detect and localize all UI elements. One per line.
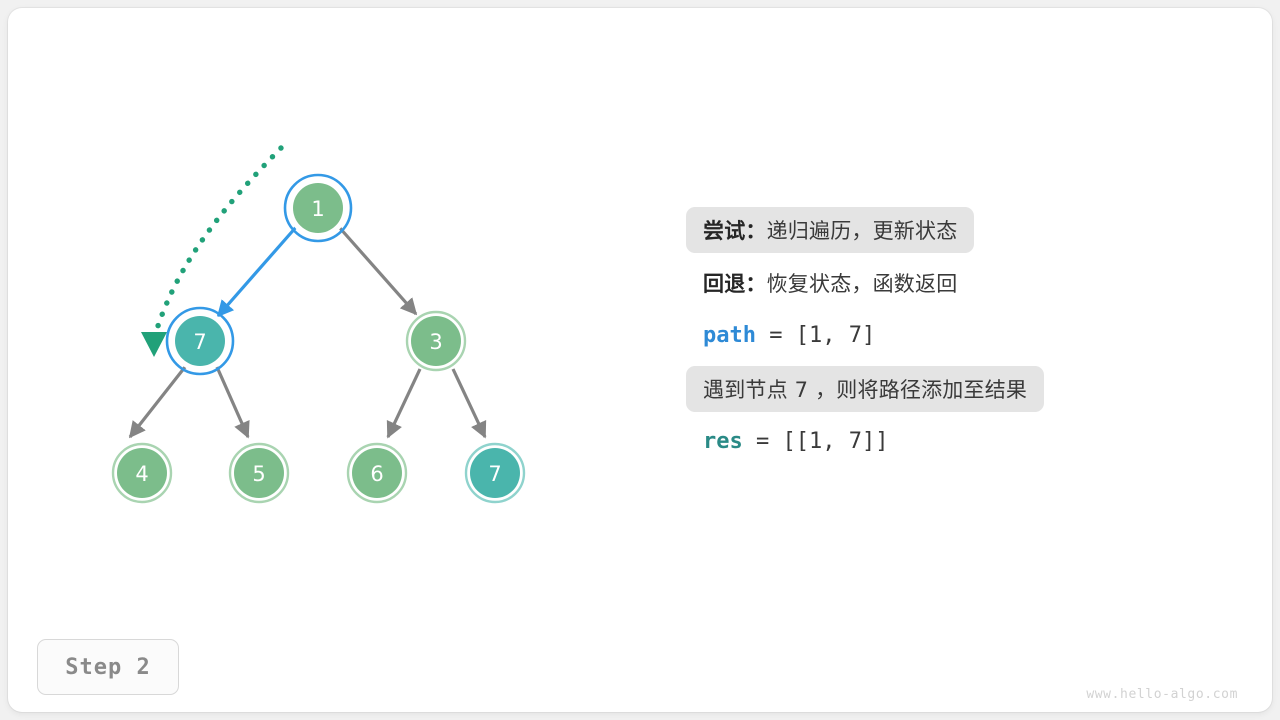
tree-node-4[interactable]: 4 [113,444,171,502]
explanation-panel: 尝试： 递归遍历，更新状态 回退： 恢复状态，函数返回 path = [1, 7… [686,206,1226,471]
retreat-prefix-label: 回退： [703,268,767,298]
try-pill: 尝试： 递归遍历，更新状态 [686,207,974,253]
tree-node-7-left[interactable]: 7 [167,308,233,374]
step-badge: Step 2 [37,639,179,695]
panel-row-res: res = [[1, 7]] [686,418,1226,465]
dotted-traversal-curve [156,148,281,332]
tree-node-6[interactable]: 6 [348,444,406,502]
found-text-label: 遇到节点 7 ，则将路径添加至结果 [703,374,1027,404]
node-5-label: 5 [252,462,265,486]
try-prefix-label: 尝试： [703,215,767,245]
node-4-label: 4 [135,462,148,486]
path-value-label: = [1, 7] [756,323,875,348]
path-line: path = [1, 7] [686,313,892,359]
try-text-label: 递归遍历，更新状态 [767,215,958,245]
edge-3-to-6 [388,369,420,437]
retreat-line: 回退： 恢复状态，函数返回 [686,260,974,306]
edge-1-to-7 [218,226,297,316]
tree-node-5[interactable]: 5 [230,444,288,502]
panel-row-retreat: 回退： 恢复状态，函数返回 [686,259,1226,306]
panel-row-path: path = [1, 7] [686,312,1226,359]
tree-node-7-right[interactable]: 7 [466,444,524,502]
found-pill: 遇到节点 7 ，则将路径添加至结果 [686,366,1044,412]
tree-node-3[interactable]: 3 [407,312,465,370]
tree-nodes: 1 7 3 4 [113,175,524,502]
tree-node-1[interactable]: 1 [285,175,351,241]
node-3-label: 3 [429,330,442,354]
panel-row-try: 尝试： 递归遍历，更新状态 [686,206,1226,253]
step-badge-label: Step 2 [65,655,150,680]
res-variable-label: res [703,429,743,454]
edge-7-to-5 [217,367,248,437]
panel-row-found: 遇到节点 7 ，则将路径添加至结果 [686,365,1226,412]
screenshot-root: 1 7 3 4 [0,0,1280,720]
node-7-left-label: 7 [193,330,206,354]
edge-1-to-3 [339,227,416,314]
node-1-label: 1 [311,197,324,221]
res-line: res = [[1, 7]] [686,419,905,465]
edge-3-to-7 [453,369,485,437]
traversal-arrowhead-icon [141,332,167,357]
footer-url: www.hello-algo.com [1086,687,1238,702]
edge-7-to-4 [130,367,185,437]
node-6-label: 6 [370,462,383,486]
path-variable-label: path [703,323,756,348]
retreat-text-label: 恢复状态，函数返回 [767,268,958,298]
res-value-label: = [[1, 7]] [743,429,889,454]
node-7-right-label: 7 [488,462,501,486]
